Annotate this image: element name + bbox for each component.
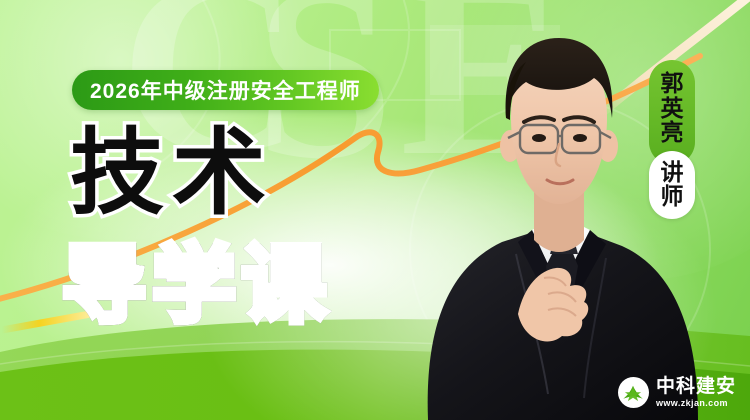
mountain-star-icon [618,377,649,408]
instructor-name-pill: 郭 英 亮 [649,60,695,165]
instructor-badge: 郭 英 亮 讲 师 [649,60,695,219]
page-title-secondary: 导学课 [62,243,332,327]
course-tag-pill: 2026年中级注册安全工程师 [72,70,379,110]
instructor-role-char-2: 师 [661,184,684,209]
page-title-primary: 技术 [70,126,274,220]
instructor-role-char-1: 讲 [661,160,684,185]
instructor-role-pill: 讲 师 [649,151,695,219]
brand-text: 中科建安 www.zkjan.com [656,377,736,408]
course-tag-text: 2026年中级注册安全工程师 [90,75,361,105]
instructor-name-char-3: 亮 [661,120,684,145]
brand-url: www.zkjan.com [656,399,736,408]
course-poster: C S E [0,0,750,420]
brand-name: 中科建安 [656,377,736,396]
instructor-name-char-2: 英 [661,96,684,121]
brand-logo[interactable]: 中科建安 www.zkjan.com [618,377,736,408]
instructor-name-char-1: 郭 [661,71,684,96]
